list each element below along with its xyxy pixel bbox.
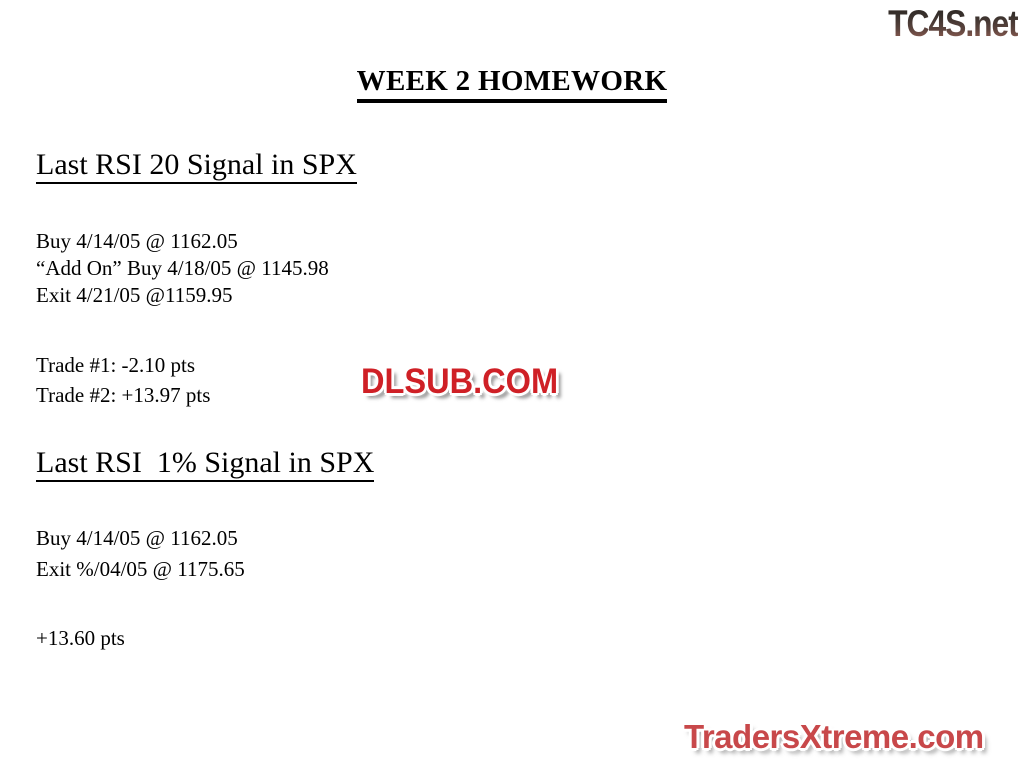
section-heading-rsi1pct-text: Last RSI 1% Signal in SPX bbox=[36, 446, 374, 482]
rsi20-entry-line-2: “Add On” Buy 4/18/05 @ 1145.98 bbox=[36, 255, 329, 282]
section-heading-rsi1pct: Last RSI 1% Signal in SPX bbox=[36, 446, 374, 480]
page-title-text: WEEK 2 HOMEWORK bbox=[357, 65, 668, 103]
tc4s-brand-watermark: TC4S.net bbox=[888, 2, 1018, 46]
page-title: WEEK 2 HOMEWORK bbox=[0, 65, 1024, 98]
rsi1pct-entry-line-2: Exit %/04/05 @ 1175.65 bbox=[36, 556, 245, 583]
rsi20-result-line-1: Trade #1: -2.10 pts bbox=[36, 352, 195, 379]
rsi20-entry-line-1: Buy 4/14/05 @ 1162.05 bbox=[36, 228, 238, 255]
rsi1pct-result-line-1: +13.60 pts bbox=[36, 625, 125, 652]
rsi20-entry-line-3: Exit 4/21/05 @1159.95 bbox=[36, 282, 232, 309]
rsi1pct-entry-line-1: Buy 4/14/05 @ 1162.05 bbox=[36, 525, 238, 552]
slide-canvas: TC4S.net WEEK 2 HOMEWORK Last RSI 20 Sig… bbox=[0, 0, 1024, 768]
section-heading-rsi20-text: Last RSI 20 Signal in SPX bbox=[36, 148, 357, 184]
rsi20-result-line-2: Trade #2: +13.97 pts bbox=[36, 382, 210, 409]
dlsub-brand-watermark: DLSUB.COM bbox=[361, 360, 558, 404]
section-heading-rsi20: Last RSI 20 Signal in SPX bbox=[36, 148, 357, 182]
tradersxtreme-brand-watermark: TradersXtreme.com bbox=[684, 716, 984, 758]
